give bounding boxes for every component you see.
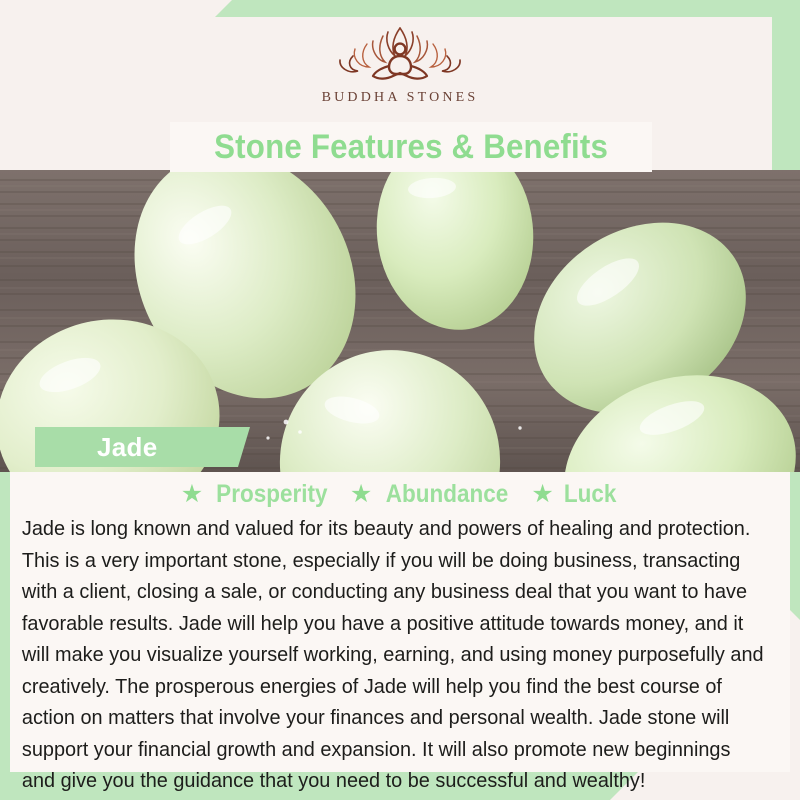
benefit-item: ★ Prosperity <box>181 480 334 509</box>
content-panel: ★ Prosperity ★ Abundance ★ Luck Jade is … <box>10 472 790 772</box>
benefit-item: ★ Abundance <box>350 480 516 509</box>
stone-description: Jade is long known and valued for its be… <box>16 514 772 798</box>
benefit-label: Luck <box>564 480 617 509</box>
title-banner: Stone Features & Benefits <box>170 122 652 172</box>
benefit-label: Abundance <box>386 480 509 509</box>
stone-name-banner: Jade <box>35 427 250 467</box>
page-title: Stone Features & Benefits <box>214 128 608 167</box>
stone-photo <box>0 170 800 472</box>
lotus-meditation-icon <box>325 22 475 84</box>
brand-name: BUDDHA STONES <box>322 90 479 106</box>
benefits-row: ★ Prosperity ★ Abundance ★ Luck <box>16 476 784 512</box>
decorative-left-lower-bar <box>0 470 10 770</box>
brand-header: BUDDHA STONES <box>0 0 800 122</box>
star-icon: ★ <box>531 482 553 507</box>
benefit-item: ★ Luck <box>531 480 619 509</box>
infographic-card: BUDDHA STONES Stone Features & Benefits <box>0 0 800 800</box>
stone-name: Jade <box>97 432 157 463</box>
star-icon: ★ <box>350 482 372 507</box>
star-icon: ★ <box>181 482 203 507</box>
benefit-label: Prosperity <box>216 480 327 509</box>
